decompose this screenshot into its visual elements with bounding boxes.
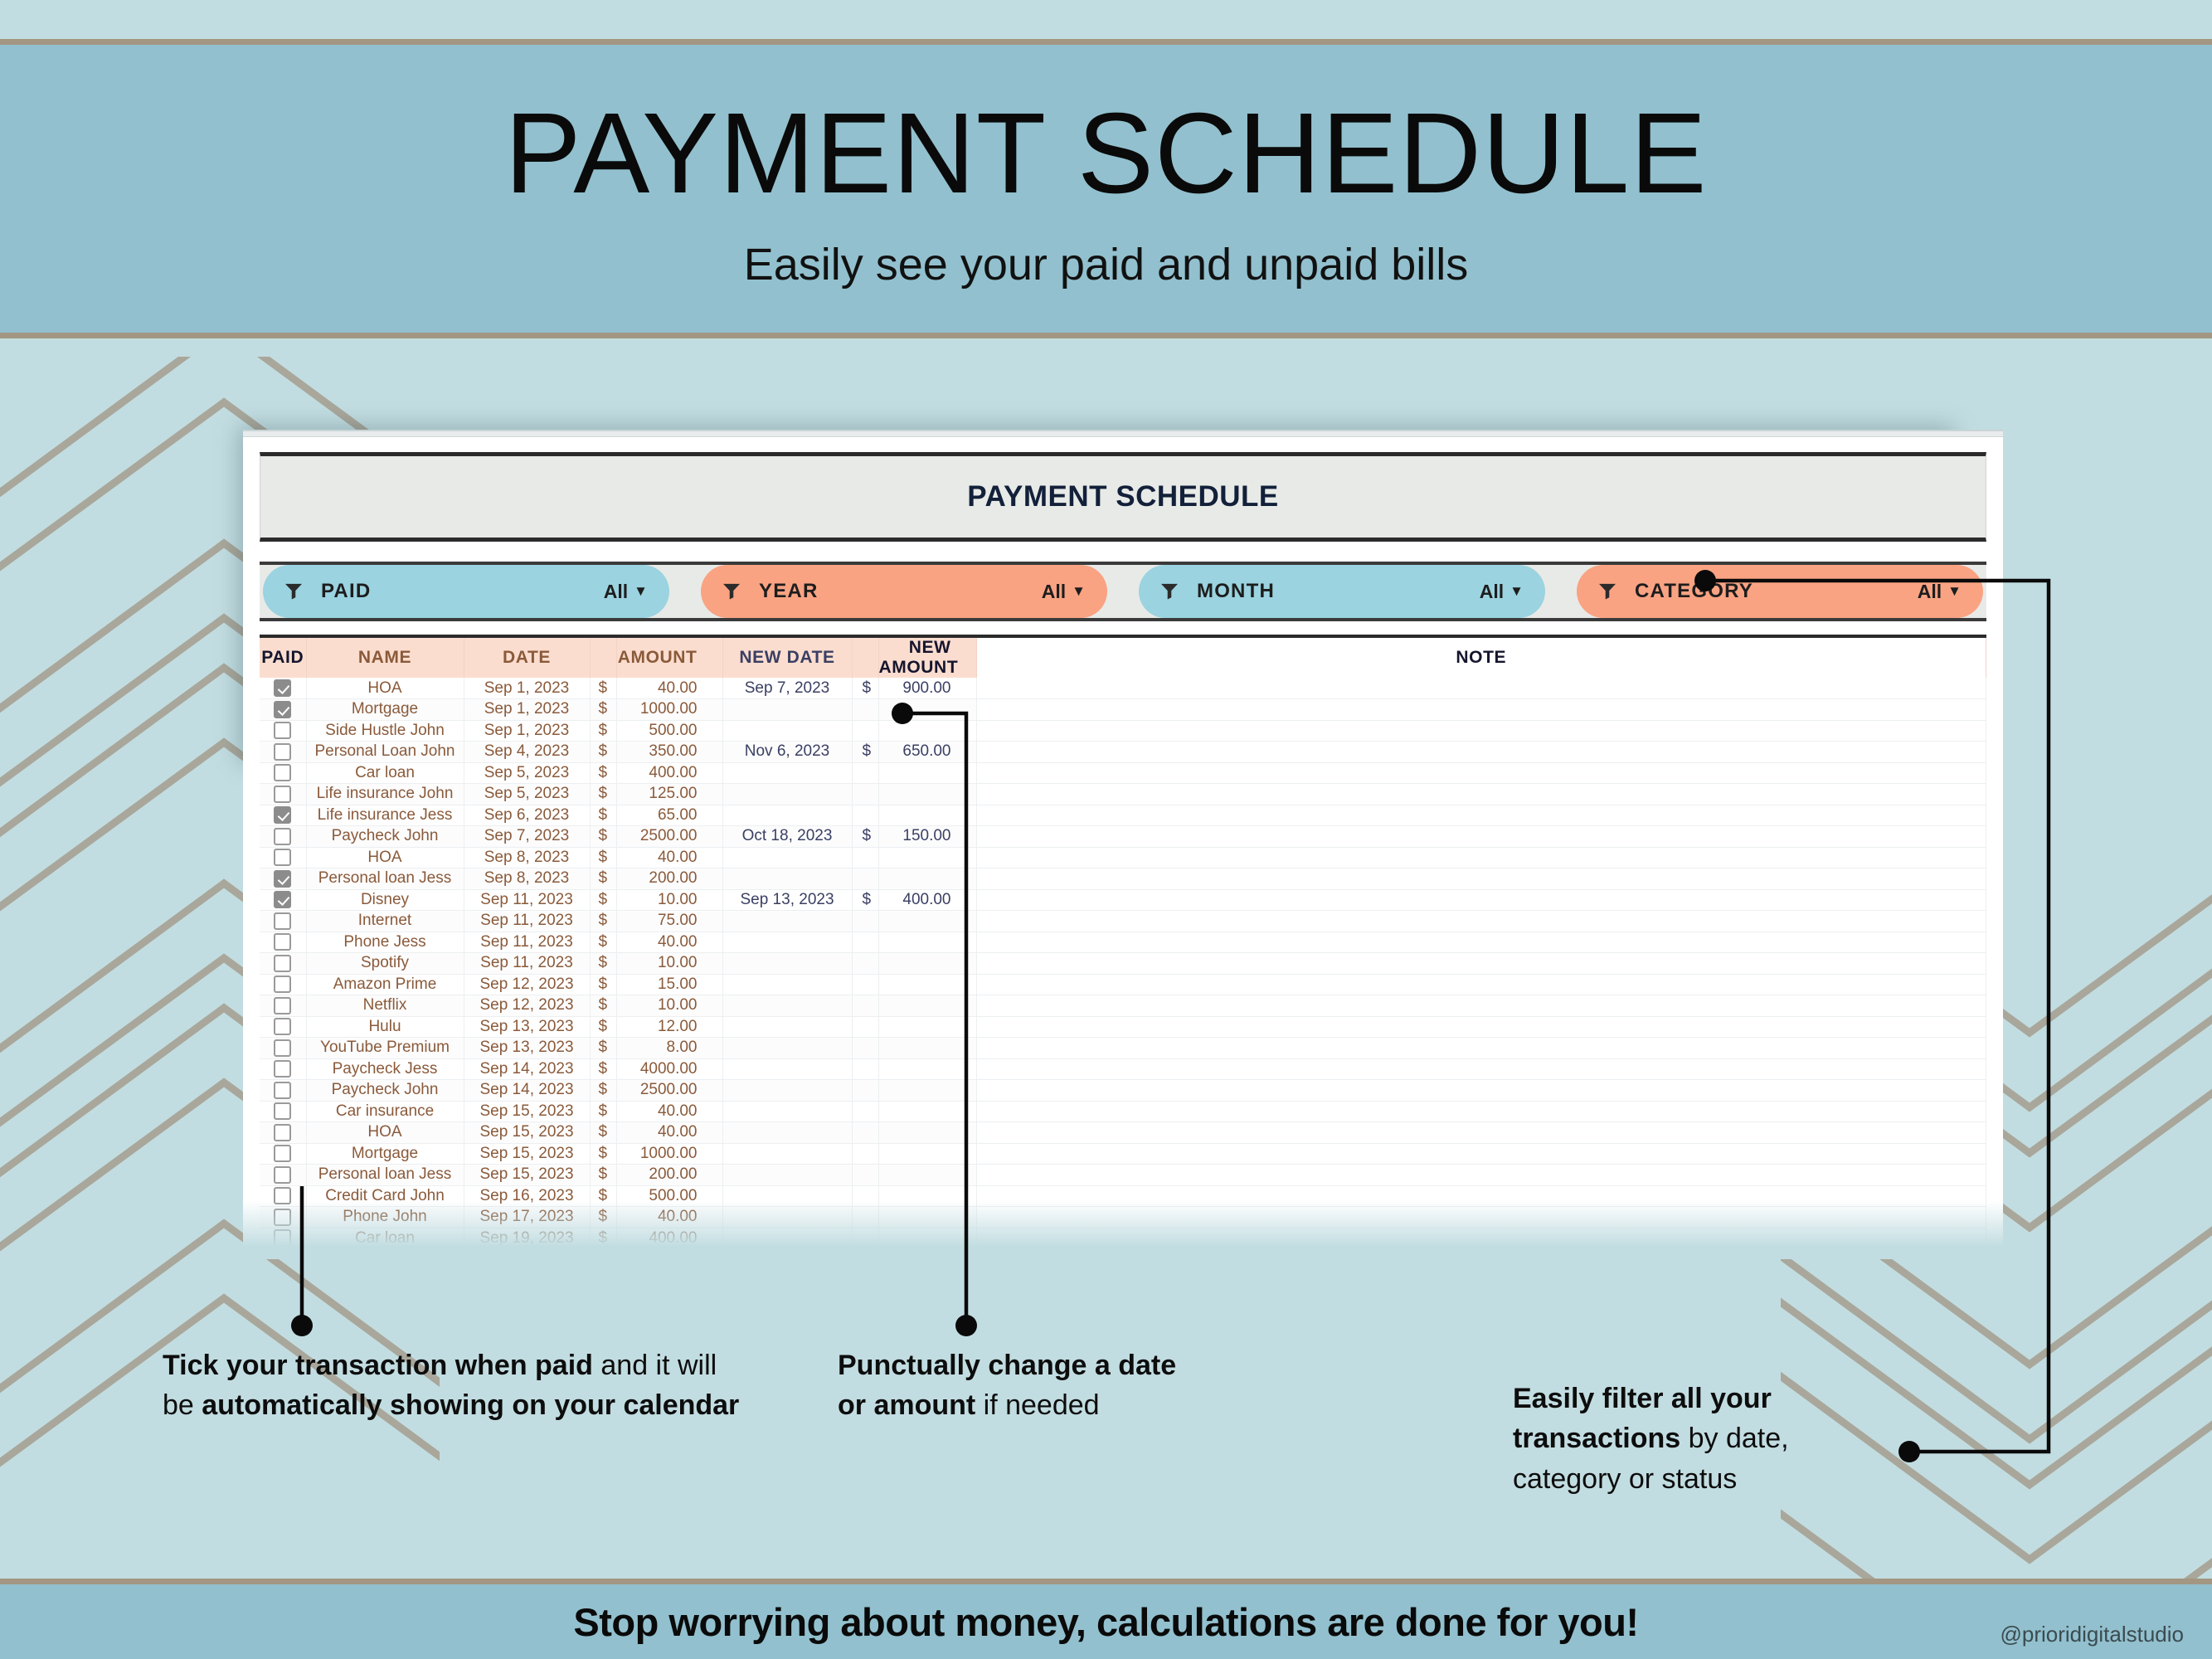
row-amount-cell[interactable]: 75.00 (616, 911, 722, 932)
row-paid-cell[interactable] (260, 1143, 306, 1165)
row-date-cell[interactable]: Sep 8, 2023 (464, 847, 590, 868)
row-currency-symbol: $ (590, 911, 616, 932)
row-amount-cell[interactable]: 40.00 (616, 932, 722, 953)
row-date-cell[interactable]: Sep 13, 2023 (464, 1016, 590, 1038)
row-amount-cell[interactable]: 500.00 (616, 1185, 722, 1207)
transactions-table-wrapper[interactable]: PAID NAME DATE AMOUNT NEW DATE NEW AMOUN… (260, 635, 1986, 1253)
table-row: Life insurance JessSep 6, 2023$65.00 (260, 805, 1986, 826)
row-new-currency-symbol (852, 911, 878, 932)
row-new-date-cell[interactable] (722, 1207, 852, 1228)
row-name-cell[interactable]: Paycheck Jess (306, 1058, 464, 1080)
row-note-cell[interactable] (976, 762, 1986, 784)
row-paid-cell[interactable] (260, 953, 306, 975)
row-new-date-cell[interactable] (722, 1228, 852, 1249)
checkbox-unchecked-icon[interactable] (274, 1018, 291, 1035)
row-amount-cell[interactable]: 10.00 (616, 995, 722, 1017)
row-new-currency-symbol (852, 784, 878, 805)
filter-funnel-icon (1598, 583, 1616, 600)
row-date-cell[interactable]: Sep 4, 2023 (464, 742, 590, 763)
row-new-currency-symbol (852, 762, 878, 784)
row-name-cell[interactable]: Phone John (306, 1207, 464, 1228)
row-paid-cell[interactable] (260, 1058, 306, 1080)
row-new-amount-cell[interactable] (878, 911, 976, 932)
row-new-amount-cell[interactable] (878, 1016, 976, 1038)
row-note-cell[interactable] (976, 1207, 1986, 1228)
row-date-cell[interactable]: Sep 1, 2023 (464, 699, 590, 721)
row-note-cell[interactable] (976, 868, 1986, 890)
row-new-currency-symbol: $ (852, 742, 878, 763)
row-paid-cell[interactable] (260, 974, 306, 995)
table-row: HOASep 8, 2023$40.00 (260, 847, 1986, 868)
row-note-cell[interactable] (976, 742, 1986, 763)
row-name-cell[interactable]: Phone Jess (306, 932, 464, 953)
row-new-amount-cell[interactable] (878, 1122, 976, 1144)
row-date-cell[interactable]: Sep 11, 2023 (464, 911, 590, 932)
row-date-cell[interactable]: Sep 11, 2023 (464, 953, 590, 975)
row-amount-cell[interactable]: 40.00 (616, 1207, 722, 1228)
row-currency-symbol: $ (590, 1080, 616, 1102)
row-currency-symbol: $ (590, 1058, 616, 1080)
table-row: InternetSep 11, 2023$75.00 (260, 911, 1986, 932)
col-header-paid[interactable]: PAID (260, 638, 306, 678)
row-name-cell[interactable]: Paycheck John (306, 826, 464, 848)
table-row: Car insuranceSep 15, 2023$40.00 (260, 1101, 1986, 1122)
row-new-date-cell[interactable] (722, 1058, 852, 1080)
checkbox-unchecked-icon[interactable] (274, 1102, 291, 1120)
row-note-cell[interactable] (976, 974, 1986, 995)
row-note-cell[interactable] (976, 911, 1986, 932)
row-amount-cell[interactable]: 65.00 (616, 805, 722, 826)
row-name-cell[interactable]: Mortgage (306, 699, 464, 721)
row-date-cell[interactable]: Sep 11, 2023 (464, 932, 590, 953)
checkbox-unchecked-icon[interactable] (274, 1039, 291, 1057)
row-note-cell[interactable] (976, 932, 1986, 953)
row-name-cell[interactable]: Netflix (306, 995, 464, 1017)
row-paid-cell[interactable] (260, 868, 306, 890)
row-paid-cell[interactable] (260, 847, 306, 868)
row-name-cell[interactable]: Credit Card John (306, 1185, 464, 1207)
row-new-date-cell[interactable] (722, 1249, 852, 1254)
row-currency-symbol: $ (590, 1101, 616, 1122)
table-row: Phone JohnSep 17, 2023$40.00 (260, 1207, 1986, 1228)
row-currency-symbol: $ (590, 678, 616, 699)
table-row: Paycheck JohnSep 14, 2023$2500.00 (260, 1080, 1986, 1102)
row-new-date-cell[interactable] (722, 932, 852, 953)
filter-year-label: YEAR (759, 580, 818, 603)
table-row: Credit Card JohnSep 16, 2023$500.00 (260, 1185, 1986, 1207)
row-note-cell[interactable] (976, 1228, 1986, 1249)
row-note-cell[interactable] (976, 995, 1986, 1017)
checkbox-unchecked-icon[interactable] (274, 1166, 291, 1184)
row-paid-cell[interactable] (260, 762, 306, 784)
row-new-currency-symbol (852, 1080, 878, 1102)
row-note-cell[interactable] (976, 847, 1986, 868)
table-row: HOASep 15, 2023$40.00 (260, 1122, 1986, 1144)
row-date-cell[interactable]: Sep 15, 2023 (464, 1165, 590, 1186)
row-amount-cell[interactable]: 15.00 (616, 974, 722, 995)
row-new-date-cell[interactable] (722, 720, 852, 742)
row-paid-cell[interactable] (260, 889, 306, 911)
filter-year[interactable]: YEAR All ▼ (701, 565, 1107, 618)
row-currency-symbol: $ (590, 762, 616, 784)
row-name-cell[interactable]: Personal Loan John (306, 742, 464, 763)
row-note-cell[interactable] (976, 826, 1986, 848)
row-new-amount-cell[interactable]: 650.00 (878, 742, 976, 763)
checkbox-checked-icon[interactable] (274, 870, 291, 888)
row-note-cell[interactable] (976, 1249, 1986, 1254)
row-paid-cell[interactable] (260, 911, 306, 932)
table-row: DisneySep 11, 2023$10.00Sep 13, 2023$400… (260, 889, 1986, 911)
checkbox-unchecked-icon[interactable] (274, 849, 291, 866)
checkbox-unchecked-icon[interactable] (274, 975, 291, 993)
row-amount-cell[interactable]: 12.00 (616, 1016, 722, 1038)
table-row: Personal Loan JohnSep 4, 2023$350.00Nov … (260, 742, 1986, 763)
row-new-amount-cell[interactable] (878, 974, 976, 995)
row-note-cell[interactable] (976, 1101, 1986, 1122)
table-row: Personal loan JessSep 8, 2023$200.00 (260, 868, 1986, 890)
table-row: YouTube PremiumSep 13, 2023$8.00 (260, 1038, 1986, 1059)
row-date-cell[interactable]: Sep 1, 2023 (464, 678, 590, 699)
row-date-cell[interactable]: Sep 8, 2023 (464, 868, 590, 890)
row-name-cell[interactable]: Hulu (306, 1016, 464, 1038)
row-date-cell[interactable]: Sep 15, 2023 (464, 1143, 590, 1165)
annotation-2-plain-1: if needed (975, 1389, 1099, 1421)
row-new-amount-cell[interactable] (878, 995, 976, 1017)
col-header-new-date[interactable]: NEW DATE (722, 638, 852, 678)
row-date-cell[interactable]: Sep 6, 2023 (464, 805, 590, 826)
row-name-cell[interactable]: HOA (306, 847, 464, 868)
row-new-amount-cell[interactable] (878, 805, 976, 826)
row-new-currency-symbol (852, 1228, 878, 1249)
row-date-cell[interactable]: Sep 14, 2023 (464, 1080, 590, 1102)
row-amount-cell[interactable]: 2500.00 (616, 1080, 722, 1102)
row-new-date-cell[interactable] (722, 1185, 852, 1207)
annotation-1-bold-2: automatically showing on your calendar (202, 1389, 739, 1421)
row-new-date-cell[interactable] (722, 1143, 852, 1165)
row-name-cell[interactable]: Car loan (306, 1228, 464, 1249)
row-amount-cell[interactable]: 200.00 (616, 1165, 722, 1186)
row-new-amount-cell[interactable] (878, 1185, 976, 1207)
row-name-cell[interactable]: Credit Card Jess (306, 1249, 464, 1254)
row-new-amount-cell[interactable] (878, 1038, 976, 1059)
row-paid-cell[interactable] (260, 1207, 306, 1228)
row-new-date-cell[interactable]: Sep 7, 2023 (722, 678, 852, 699)
row-new-amount-cell[interactable]: 150.00 (878, 826, 976, 848)
row-amount-cell[interactable]: 10.00 (616, 953, 722, 975)
row-date-cell[interactable]: Sep 5, 2023 (464, 784, 590, 805)
row-paid-cell[interactable] (260, 932, 306, 953)
filter-funnel-icon (1160, 583, 1179, 600)
checkbox-unchecked-icon[interactable] (274, 1187, 291, 1204)
row-new-currency-symbol (852, 1207, 878, 1228)
row-paid-cell[interactable] (260, 1038, 306, 1059)
row-note-cell[interactable] (976, 1185, 1986, 1207)
row-new-amount-cell[interactable]: 400.00 (878, 889, 976, 911)
row-new-date-cell[interactable] (722, 1122, 852, 1144)
row-amount-cell[interactable]: 8.00 (616, 1038, 722, 1059)
filter-month-value: All (1480, 581, 1504, 603)
row-new-amount-cell[interactable] (878, 932, 976, 953)
row-amount-cell[interactable]: 4000.00 (616, 1058, 722, 1080)
row-note-cell[interactable] (976, 1143, 1986, 1165)
row-amount-cell[interactable]: 400.00 (616, 1228, 722, 1249)
checkbox-unchecked-icon[interactable] (274, 955, 291, 972)
row-paid-cell[interactable] (260, 826, 306, 848)
checkbox-checked-icon[interactable] (274, 806, 291, 824)
row-new-date-cell[interactable] (722, 868, 852, 890)
row-new-amount-cell[interactable] (878, 868, 976, 890)
row-paid-cell[interactable] (260, 1080, 306, 1102)
col-header-new-amount[interactable]: NEW AMOUNT (878, 638, 976, 678)
table-row: Credit Card JessSep 19, 2023$550.00 (260, 1249, 1986, 1254)
row-paid-cell[interactable] (260, 678, 306, 699)
col-header-amount[interactable]: AMOUNT (616, 638, 722, 678)
row-date-cell[interactable]: Sep 13, 2023 (464, 1038, 590, 1059)
table-row: Personal loan JessSep 15, 2023$200.00 (260, 1165, 1986, 1186)
row-paid-cell[interactable] (260, 1185, 306, 1207)
checkbox-unchecked-icon[interactable] (274, 997, 291, 1014)
checkbox-unchecked-icon[interactable] (274, 1229, 291, 1247)
row-amount-cell[interactable]: 200.00 (616, 868, 722, 890)
checkbox-unchecked-icon[interactable] (274, 1060, 291, 1078)
row-date-cell[interactable]: Sep 1, 2023 (464, 720, 590, 742)
checkbox-unchecked-icon[interactable] (274, 828, 291, 845)
col-header-date[interactable]: DATE (464, 638, 590, 678)
row-note-cell[interactable] (976, 1122, 1986, 1144)
checkbox-unchecked-icon[interactable] (274, 1082, 291, 1099)
filter-category[interactable]: CATEGORY All ▼ (1577, 565, 1983, 618)
checkbox-unchecked-icon[interactable] (274, 722, 291, 739)
row-currency-symbol: $ (590, 1016, 616, 1038)
row-date-cell[interactable]: Sep 16, 2023 (464, 1185, 590, 1207)
row-amount-cell[interactable]: 40.00 (616, 847, 722, 868)
checkbox-unchecked-icon[interactable] (274, 1209, 291, 1226)
row-date-cell[interactable]: Sep 5, 2023 (464, 762, 590, 784)
row-amount-cell[interactable]: 1000.00 (616, 699, 722, 721)
row-paid-cell[interactable] (260, 1165, 306, 1186)
row-new-amount-cell[interactable] (878, 720, 976, 742)
row-new-date-cell[interactable] (722, 953, 852, 975)
row-new-currency-symbol (852, 1122, 878, 1144)
row-new-date-cell[interactable] (722, 784, 852, 805)
filter-paid[interactable]: PAID All ▼ (263, 565, 669, 618)
row-amount-cell[interactable]: 2500.00 (616, 826, 722, 848)
row-new-date-cell[interactable] (722, 805, 852, 826)
row-new-currency-symbol: $ (852, 889, 878, 911)
spreadsheet-column-strip (243, 431, 2003, 437)
row-name-cell[interactable]: Disney (306, 889, 464, 911)
row-currency-symbol: $ (590, 868, 616, 890)
row-amount-cell[interactable]: 40.00 (616, 1101, 722, 1122)
checkbox-unchecked-icon[interactable] (274, 1251, 291, 1253)
row-date-cell[interactable]: Sep 12, 2023 (464, 974, 590, 995)
row-note-cell[interactable] (976, 699, 1986, 721)
row-amount-cell[interactable]: 40.00 (616, 1122, 722, 1144)
row-paid-cell[interactable] (260, 805, 306, 826)
row-date-cell[interactable]: Sep 14, 2023 (464, 1058, 590, 1080)
row-new-amount-cell[interactable] (878, 1080, 976, 1102)
checkbox-checked-icon[interactable] (274, 679, 291, 697)
row-note-cell[interactable] (976, 805, 1986, 826)
row-name-cell[interactable]: Paycheck John (306, 1080, 464, 1102)
row-date-cell[interactable]: Sep 19, 2023 (464, 1249, 590, 1254)
row-new-date-cell[interactable]: Oct 18, 2023 (722, 826, 852, 848)
row-new-date-cell[interactable] (722, 1080, 852, 1102)
row-amount-cell[interactable]: 40.00 (616, 678, 722, 699)
row-new-date-cell[interactable] (722, 1038, 852, 1059)
row-note-cell[interactable] (976, 720, 1986, 742)
filter-paid-label: PAID (321, 580, 371, 603)
row-new-date-cell[interactable] (722, 847, 852, 868)
row-new-amount-cell[interactable]: 900.00 (878, 678, 976, 699)
row-new-amount-cell[interactable] (878, 847, 976, 868)
row-date-cell[interactable]: Sep 17, 2023 (464, 1207, 590, 1228)
row-new-date-cell[interactable] (722, 1016, 852, 1038)
row-new-currency-symbol (852, 1038, 878, 1059)
checkbox-unchecked-icon[interactable] (274, 933, 291, 951)
annotation-filter-transactions: Easily filter all your transactions by d… (1513, 1379, 1903, 1499)
row-date-cell[interactable]: Sep 15, 2023 (464, 1122, 590, 1144)
filter-funnel-icon (284, 583, 303, 600)
row-new-amount-cell[interactable] (878, 784, 976, 805)
row-name-cell[interactable]: Life insurance Jess (306, 805, 464, 826)
row-currency-symbol: $ (590, 720, 616, 742)
row-paid-cell[interactable] (260, 1228, 306, 1249)
row-note-cell[interactable] (976, 784, 1986, 805)
row-name-cell[interactable]: YouTube Premium (306, 1038, 464, 1059)
row-paid-cell[interactable] (260, 1249, 306, 1254)
row-date-cell[interactable]: Sep 12, 2023 (464, 995, 590, 1017)
checkbox-unchecked-icon[interactable] (274, 743, 291, 761)
row-new-currency-symbol (852, 932, 878, 953)
row-currency-symbol: $ (590, 847, 616, 868)
row-name-cell[interactable]: HOA (306, 678, 464, 699)
row-currency-symbol: $ (590, 953, 616, 975)
row-note-cell[interactable] (976, 678, 1986, 699)
row-amount-cell[interactable]: 550.00 (616, 1249, 722, 1254)
row-new-amount-cell[interactable] (878, 1249, 976, 1254)
hero-banner: PAYMENT SCHEDULE Easily see your paid an… (0, 39, 2212, 338)
row-new-date-cell[interactable] (722, 1165, 852, 1186)
row-new-amount-cell[interactable] (878, 1143, 976, 1165)
row-paid-cell[interactable] (260, 1016, 306, 1038)
row-new-date-cell[interactable] (722, 974, 852, 995)
row-note-cell[interactable] (976, 953, 1986, 975)
row-name-cell[interactable]: Personal loan Jess (306, 868, 464, 890)
row-amount-cell[interactable]: 350.00 (616, 742, 722, 763)
row-date-cell[interactable]: Sep 15, 2023 (464, 1101, 590, 1122)
row-new-date-cell[interactable] (722, 911, 852, 932)
row-currency-symbol: $ (590, 1143, 616, 1165)
row-amount-cell[interactable]: 500.00 (616, 720, 722, 742)
checkbox-checked-icon[interactable] (274, 891, 291, 908)
row-note-cell[interactable] (976, 1038, 1986, 1059)
transactions-table: PAID NAME DATE AMOUNT NEW DATE NEW AMOUN… (260, 638, 1986, 1253)
table-header-row: PAID NAME DATE AMOUNT NEW DATE NEW AMOUN… (260, 638, 1986, 678)
col-header-name[interactable]: NAME (306, 638, 464, 678)
row-new-amount-cell[interactable] (878, 1165, 976, 1186)
row-amount-cell[interactable]: 1000.00 (616, 1143, 722, 1165)
row-name-cell[interactable]: Car insurance (306, 1101, 464, 1122)
row-paid-cell[interactable] (260, 720, 306, 742)
checkbox-unchecked-icon[interactable] (274, 1124, 291, 1141)
row-amount-cell[interactable]: 10.00 (616, 889, 722, 911)
checkbox-unchecked-icon[interactable] (274, 764, 291, 781)
annotation-tick-transaction: Tick your transaction when paid and it w… (163, 1345, 743, 1426)
row-name-cell[interactable]: Car loan (306, 762, 464, 784)
row-new-amount-cell[interactable] (878, 699, 976, 721)
row-name-cell[interactable]: Spotify (306, 953, 464, 975)
row-new-date-cell[interactable]: Nov 6, 2023 (722, 742, 852, 763)
row-new-amount-cell[interactable] (878, 953, 976, 975)
row-name-cell[interactable]: Life insurance John (306, 784, 464, 805)
row-note-cell[interactable] (976, 889, 1986, 911)
row-name-cell[interactable]: Personal loan Jess (306, 1165, 464, 1186)
row-name-cell[interactable]: HOA (306, 1122, 464, 1144)
table-row: Life insurance JohnSep 5, 2023$125.00 (260, 784, 1986, 805)
row-paid-cell[interactable] (260, 784, 306, 805)
checkbox-checked-icon[interactable] (274, 701, 291, 718)
row-currency-symbol: $ (590, 932, 616, 953)
col-header-note[interactable]: NOTE (976, 638, 1986, 678)
row-new-date-cell[interactable] (722, 1101, 852, 1122)
row-name-cell[interactable]: Internet (306, 911, 464, 932)
row-note-cell[interactable] (976, 1058, 1986, 1080)
row-name-cell[interactable]: Amazon Prime (306, 974, 464, 995)
row-new-amount-cell[interactable] (878, 1207, 976, 1228)
row-new-amount-cell[interactable] (878, 1101, 976, 1122)
row-currency-symbol: $ (590, 699, 616, 721)
filter-month[interactable]: MONTH All ▼ (1139, 565, 1545, 618)
row-name-cell[interactable]: Side Hustle John (306, 720, 464, 742)
checkbox-unchecked-icon[interactable] (274, 1145, 291, 1162)
checkbox-unchecked-icon[interactable] (274, 786, 291, 803)
row-new-date-cell[interactable] (722, 995, 852, 1017)
row-date-cell[interactable]: Sep 19, 2023 (464, 1228, 590, 1249)
row-new-date-cell[interactable] (722, 699, 852, 721)
row-note-cell[interactable] (976, 1165, 1986, 1186)
filter-month-label: MONTH (1197, 580, 1275, 603)
brand-handle: @prioridigitalstudio (2001, 1622, 2185, 1647)
footer-tagline: Stop worrying about money, calculations … (573, 1599, 1638, 1645)
row-new-amount-cell[interactable] (878, 762, 976, 784)
row-amount-cell[interactable]: 400.00 (616, 762, 722, 784)
row-currency-symbol: $ (590, 1185, 616, 1207)
row-name-cell[interactable]: Mortgage (306, 1143, 464, 1165)
row-new-amount-cell[interactable] (878, 1228, 976, 1249)
row-new-date-cell[interactable]: Sep 13, 2023 (722, 889, 852, 911)
row-paid-cell[interactable] (260, 995, 306, 1017)
row-date-cell[interactable]: Sep 11, 2023 (464, 889, 590, 911)
row-note-cell[interactable] (976, 1016, 1986, 1038)
row-paid-cell[interactable] (260, 699, 306, 721)
row-currency-symbol: $ (590, 995, 616, 1017)
row-new-amount-cell[interactable] (878, 1058, 976, 1080)
row-currency-symbol: $ (590, 1249, 616, 1254)
row-new-date-cell[interactable] (722, 762, 852, 784)
row-paid-cell[interactable] (260, 742, 306, 763)
checkbox-unchecked-icon[interactable] (274, 912, 291, 930)
table-row: Paycheck JohnSep 7, 2023$2500.00Oct 18, … (260, 826, 1986, 848)
filter-funnel-icon (722, 583, 741, 600)
row-paid-cell[interactable] (260, 1101, 306, 1122)
row-new-currency-symbol (852, 868, 878, 890)
row-amount-cell[interactable]: 125.00 (616, 784, 722, 805)
table-row: Car loanSep 19, 2023$400.00 (260, 1228, 1986, 1249)
row-note-cell[interactable] (976, 1080, 1986, 1102)
row-paid-cell[interactable] (260, 1122, 306, 1144)
row-date-cell[interactable]: Sep 7, 2023 (464, 826, 590, 848)
